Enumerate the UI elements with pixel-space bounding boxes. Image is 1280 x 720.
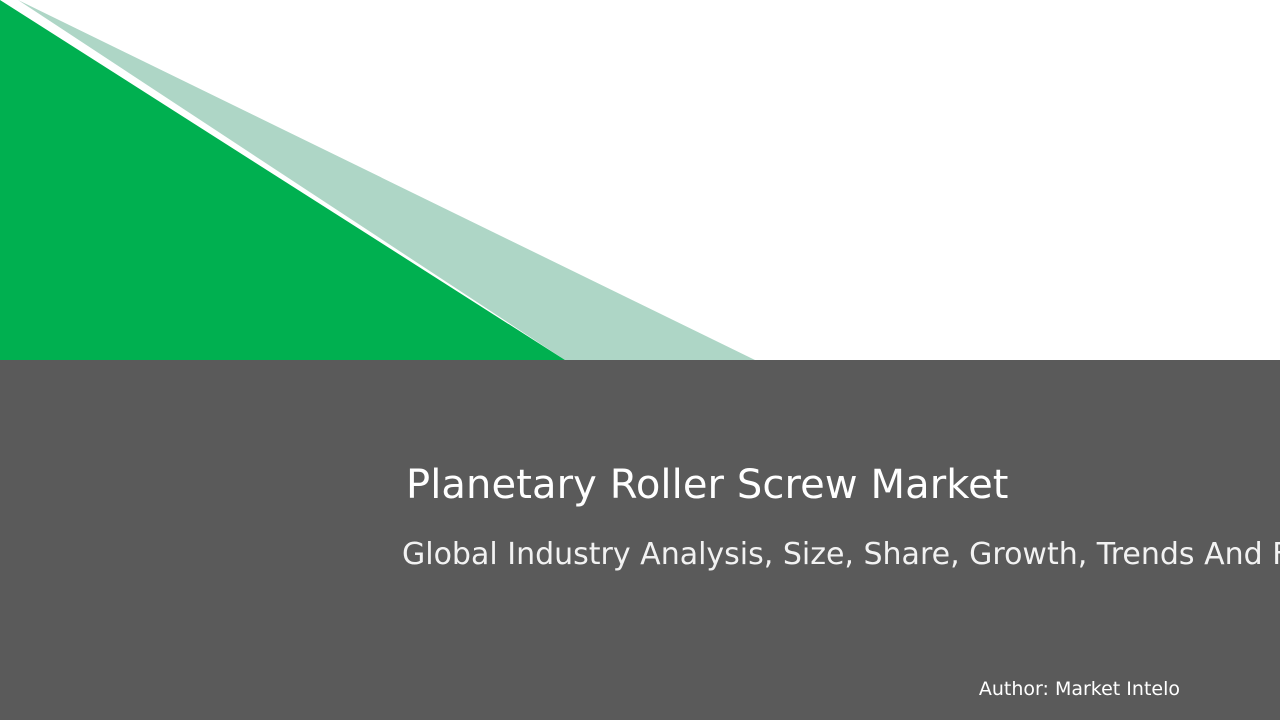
report-cover-page: Planetary Roller Screw Market Global Ind… bbox=[0, 0, 1280, 720]
mint-wedge bbox=[18, 0, 755, 360]
page-subtitle: Global Industry Analysis, Size, Share, G… bbox=[402, 538, 1280, 573]
cover-text-block: Planetary Roller Screw Market Global Ind… bbox=[0, 360, 1280, 720]
author-label: Author: Market Intelo bbox=[0, 678, 1180, 701]
page-title: Planetary Roller Screw Market bbox=[406, 463, 1009, 508]
